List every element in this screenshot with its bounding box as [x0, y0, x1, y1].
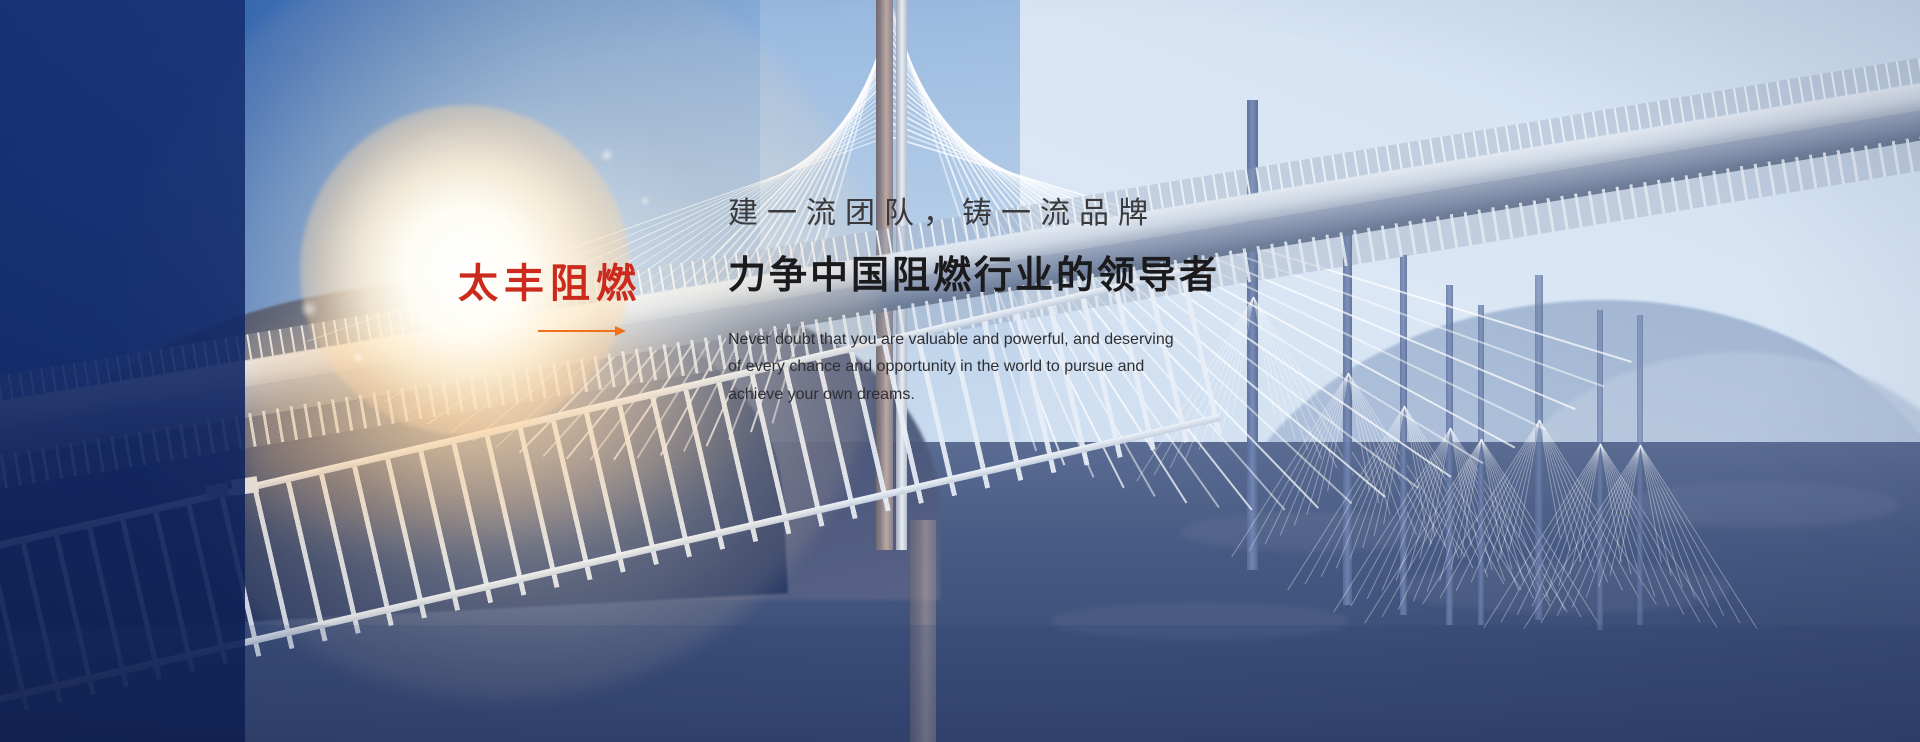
- banner-text-block: 建一流团队，铸一流品牌 力争中国阻燃行业的领导者 Never doubt tha…: [728, 196, 1348, 408]
- arrow-shaft: [538, 330, 618, 332]
- banner-tagline: 建一流团队，铸一流品牌: [728, 196, 1348, 232]
- hero-banner: 太丰阻燃 建一流团队，铸一流品牌 力争中国阻燃行业的领导者 Never doub…: [0, 0, 1920, 742]
- arrow-head: [615, 326, 626, 336]
- banner-headline: 力争中国阻燃行业的领导者: [728, 254, 1348, 300]
- banner-subtext: Never doubt that you are valuable and po…: [728, 326, 1188, 409]
- banner-content: 太丰阻燃 建一流团队，铸一流品牌 力争中国阻燃行业的领导者 Never doub…: [0, 0, 1920, 742]
- arrow-right-icon: [538, 326, 626, 336]
- brand-logo-text: 太丰阻燃: [458, 264, 698, 304]
- brand-logo[interactable]: 太丰阻燃: [458, 264, 698, 336]
